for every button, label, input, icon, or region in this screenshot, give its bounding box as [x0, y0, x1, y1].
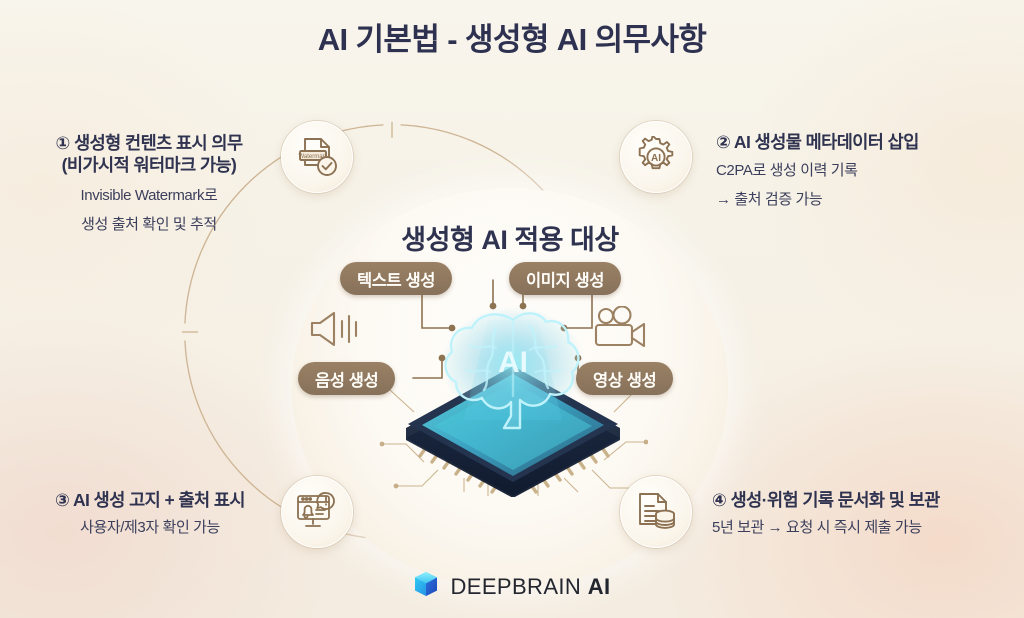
brain-ai-label: AI [498, 346, 528, 379]
obligation-2-subline-1: C2PA로 생성 이력 기록 [716, 161, 919, 182]
obligation-3-subline-1: 사용자/제3자 확인 가능 [24, 518, 276, 539]
svg-text:AI: AI [651, 153, 661, 164]
pill-image-generation[interactable]: 이미지 생성 [509, 262, 621, 295]
brand-name: DEEPBRAIN AI [450, 574, 610, 600]
obligation-1-text: ① 생성형 컨텐츠 표시 의무 (비가시적 워터마크 가능) Invisible… [18, 132, 280, 236]
node-icon-document-database[interactable] [620, 476, 692, 548]
obligation-2-text: ② AI 생성물 메타데이터 삽입 C2PA로 생성 이력 기록 → 출처 검증… [716, 131, 919, 211]
node-icon-ai-gear[interactable]: AI [620, 121, 692, 193]
pill-audio-generation[interactable]: 음성 생성 [298, 362, 395, 395]
node-icon-watermark[interactable]: Watermark [281, 121, 353, 193]
video-camera-icon [592, 306, 648, 355]
brand-name-regular: DEEPBRAIN [450, 574, 587, 599]
brand-footer: DEEPBRAIN AI [0, 571, 1024, 602]
obligation-3-text: ③ AI 생성 고지 + 출처 표시 사용자/제3자 확인 가능 [24, 489, 276, 539]
deepbrain-cube-logo-icon [413, 571, 439, 602]
pill-video-generation[interactable]: 영상 생성 [576, 362, 673, 395]
obligation-1-headline-2: (비가시적 워터마크 가능) [18, 154, 280, 176]
obligation-3-headline-1: ③ AI 생성 고지 + 출처 표시 [24, 489, 276, 511]
obligation-1-headline-1: ① 생성형 컨텐츠 표시 의무 [18, 132, 280, 154]
obligation-4-text: ④ 생성·위험 기록 문서화 및 보관 5년 보관 → 요청 시 즉시 제출 가… [712, 489, 940, 539]
obligation-2-subline-2: → 출처 검증 가능 [716, 190, 919, 211]
pill-text-generation[interactable]: 텍스트 생성 [340, 262, 452, 295]
obligation-1-subline-1: Invisible Watermark로 [18, 186, 280, 207]
speaker-icon [306, 308, 364, 355]
obligation-4-subline-1: 5년 보관 → 요청 시 즉시 제출 가능 [712, 518, 940, 539]
page-title: AI 기본법 - 생성형 AI 의무사항 [0, 14, 1024, 59]
node-icon-monitor-alert[interactable] [281, 476, 353, 548]
obligation-1-subline-2: 생성 출처 확인 및 추적 [18, 215, 280, 236]
obligation-4-headline-1: ④ 생성·위험 기록 문서화 및 보관 [712, 489, 940, 511]
infographic-stage: AI 기본법 - 생성형 AI 의무사항 생성형 AI 적용 대상 [0, 0, 1024, 618]
obligation-2-headline-1: ② AI 생성물 메타데이터 삽입 [716, 131, 919, 153]
brand-name-bold: AI [588, 574, 611, 599]
